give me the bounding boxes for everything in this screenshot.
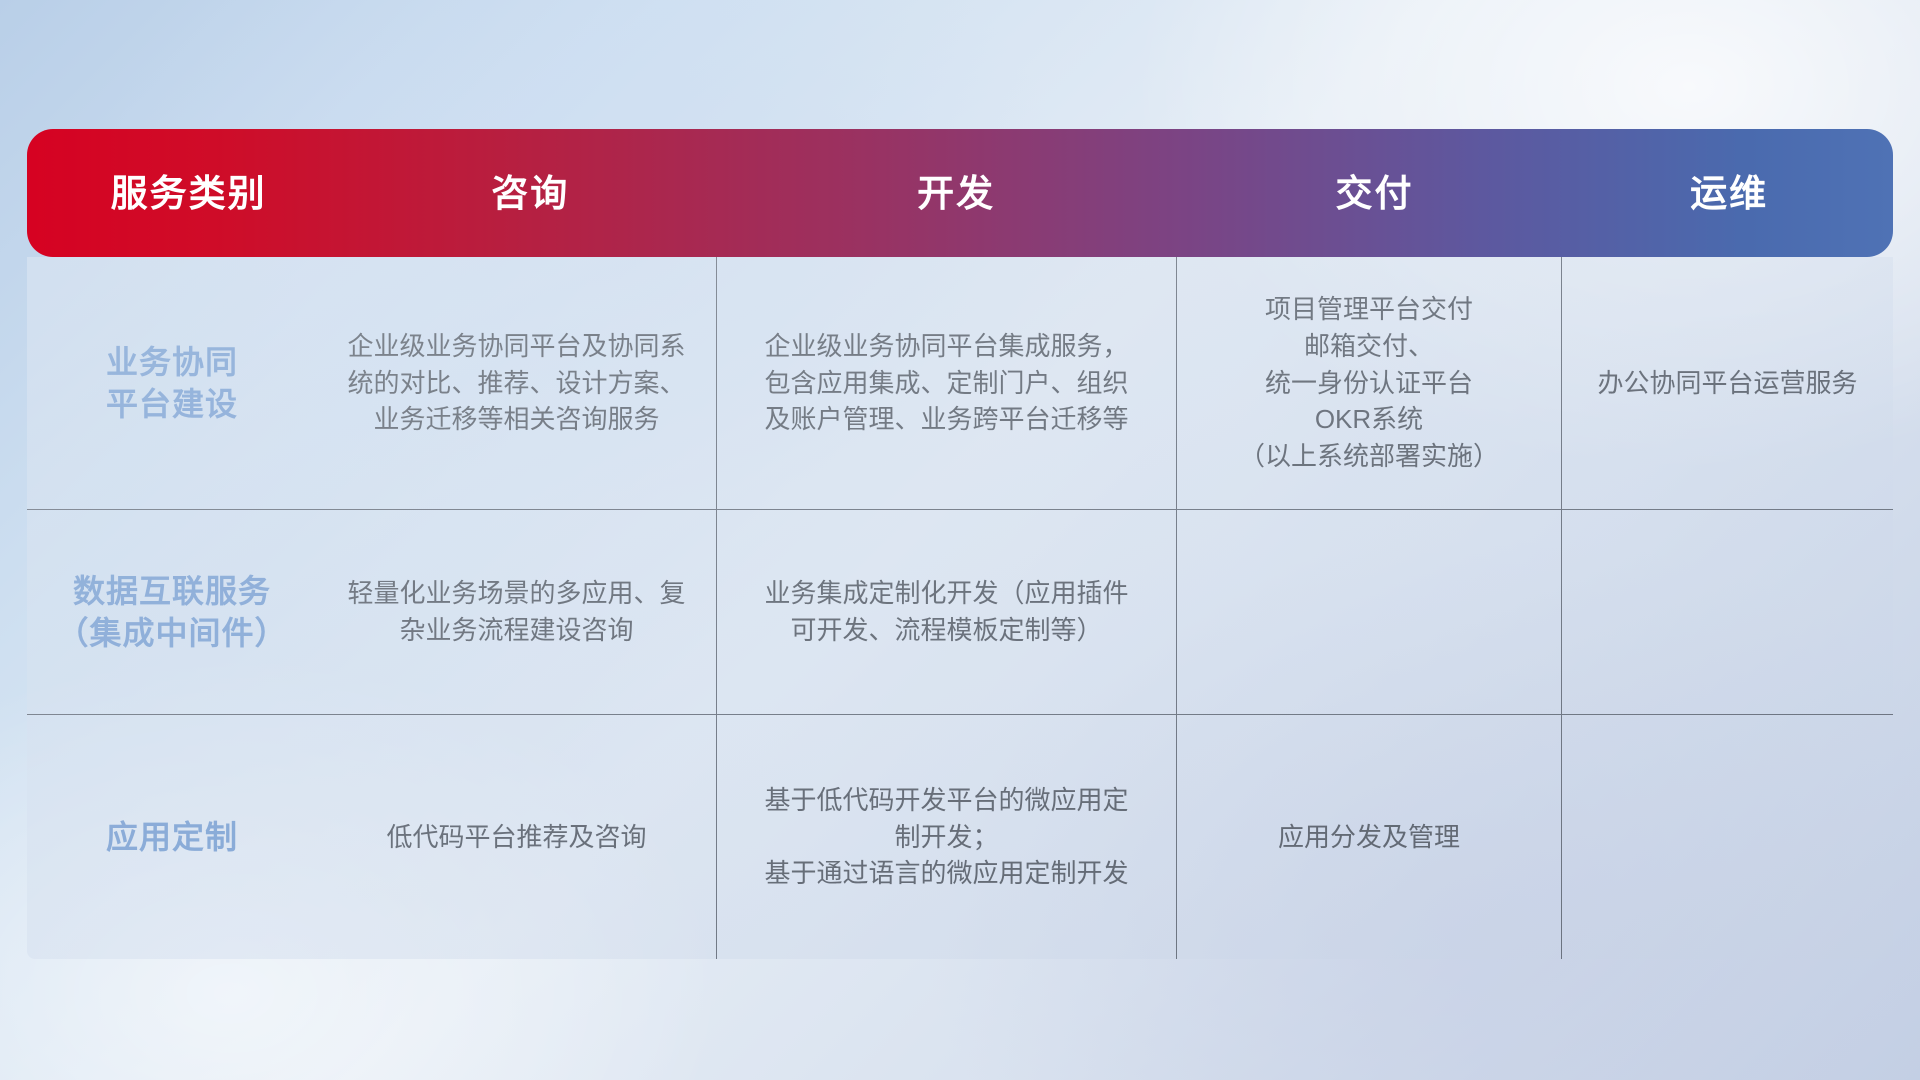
slide-canvas: 服务类别 咨询 开发 交付 运维 业务协同 平台建设 企业级业务协同平台及协同系…: [0, 0, 1920, 1080]
column-header-operations: 运维: [1565, 175, 1893, 212]
column-header-service-category: 服务类别: [27, 175, 332, 212]
cell-row0-consulting: 企业级业务协同平台及协同系 统的对比、推荐、设计方案、 业务迁移等相关咨询服务: [317, 257, 717, 509]
row-label-app-customization: 应用定制: [27, 715, 317, 959]
cell-row1-consulting: 轻量化业务场景的多应用、复 杂业务流程建设咨询: [317, 510, 717, 714]
table-row: 应用定制 低代码平台推荐及咨询 基于低代码开发平台的微应用定 制开发； 基于通过…: [27, 715, 1893, 959]
row-label-data-interconnect: 数据互联服务 （集成中间件）: [27, 510, 317, 714]
column-header-consulting: 咨询: [332, 175, 728, 212]
column-header-delivery: 交付: [1184, 175, 1565, 212]
service-matrix-table: 服务类别 咨询 开发 交付 运维 业务协同 平台建设 企业级业务协同平台及协同系…: [27, 129, 1893, 959]
cell-row0-delivery: 项目管理平台交付 邮箱交付、 统一身份认证平台 OKR系统 （以上系统部署实施）: [1177, 257, 1562, 509]
table-body: 业务协同 平台建设 企业级业务协同平台及协同系 统的对比、推荐、设计方案、 业务…: [27, 257, 1893, 959]
cell-row1-operations: [1562, 510, 1893, 714]
cell-row0-development: 企业级业务协同平台集成服务， 包含应用集成、定制门户、组织 及账户管理、业务跨平…: [717, 257, 1177, 509]
table-header-row: 服务类别 咨询 开发 交付 运维: [27, 129, 1893, 257]
cell-row2-operations: [1562, 715, 1893, 959]
cell-row2-development: 基于低代码开发平台的微应用定 制开发； 基于通过语言的微应用定制开发: [717, 715, 1177, 959]
cell-row1-development: 业务集成定制化开发（应用插件 可开发、流程模板定制等）: [717, 510, 1177, 714]
row-label-business-collaboration: 业务协同 平台建设: [27, 257, 317, 509]
table-row: 业务协同 平台建设 企业级业务协同平台及协同系 统的对比、推荐、设计方案、 业务…: [27, 257, 1893, 510]
table-row: 数据互联服务 （集成中间件） 轻量化业务场景的多应用、复 杂业务流程建设咨询 业…: [27, 510, 1893, 715]
cell-row2-delivery: 应用分发及管理: [1177, 715, 1562, 959]
cell-row1-delivery: [1177, 510, 1562, 714]
column-header-development: 开发: [728, 175, 1184, 212]
cell-row0-operations: 办公协同平台运营服务: [1562, 257, 1893, 509]
cell-row2-consulting: 低代码平台推荐及咨询: [317, 715, 717, 959]
